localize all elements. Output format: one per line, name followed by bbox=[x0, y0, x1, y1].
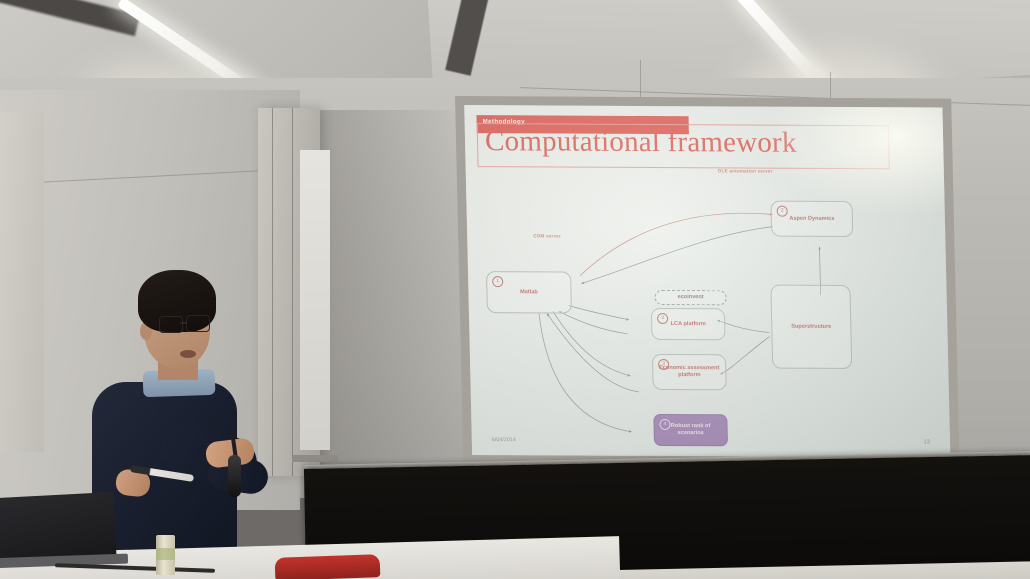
glasses-bridge bbox=[180, 322, 187, 324]
presenter-mouth bbox=[180, 350, 196, 358]
pillar-seam-b bbox=[292, 108, 293, 476]
lecture-room-photo: Methodology Computational framework bbox=[0, 0, 1030, 579]
glasses-lens-right bbox=[186, 315, 210, 332]
red-object bbox=[275, 554, 381, 579]
presentation-slide: Methodology Computational framework bbox=[464, 105, 950, 457]
projection-screen: Methodology Computational framework bbox=[455, 96, 960, 471]
drink-can-label bbox=[156, 548, 175, 560]
pillar-seam-a bbox=[272, 108, 273, 476]
whiteboard bbox=[300, 150, 330, 450]
wall-pillar-outer bbox=[0, 112, 44, 452]
wall-shadow bbox=[318, 110, 468, 470]
microphone bbox=[228, 455, 241, 497]
slide-glare bbox=[763, 105, 950, 218]
glasses-lens-left bbox=[159, 316, 183, 333]
whiteboard-tray bbox=[292, 455, 338, 462]
